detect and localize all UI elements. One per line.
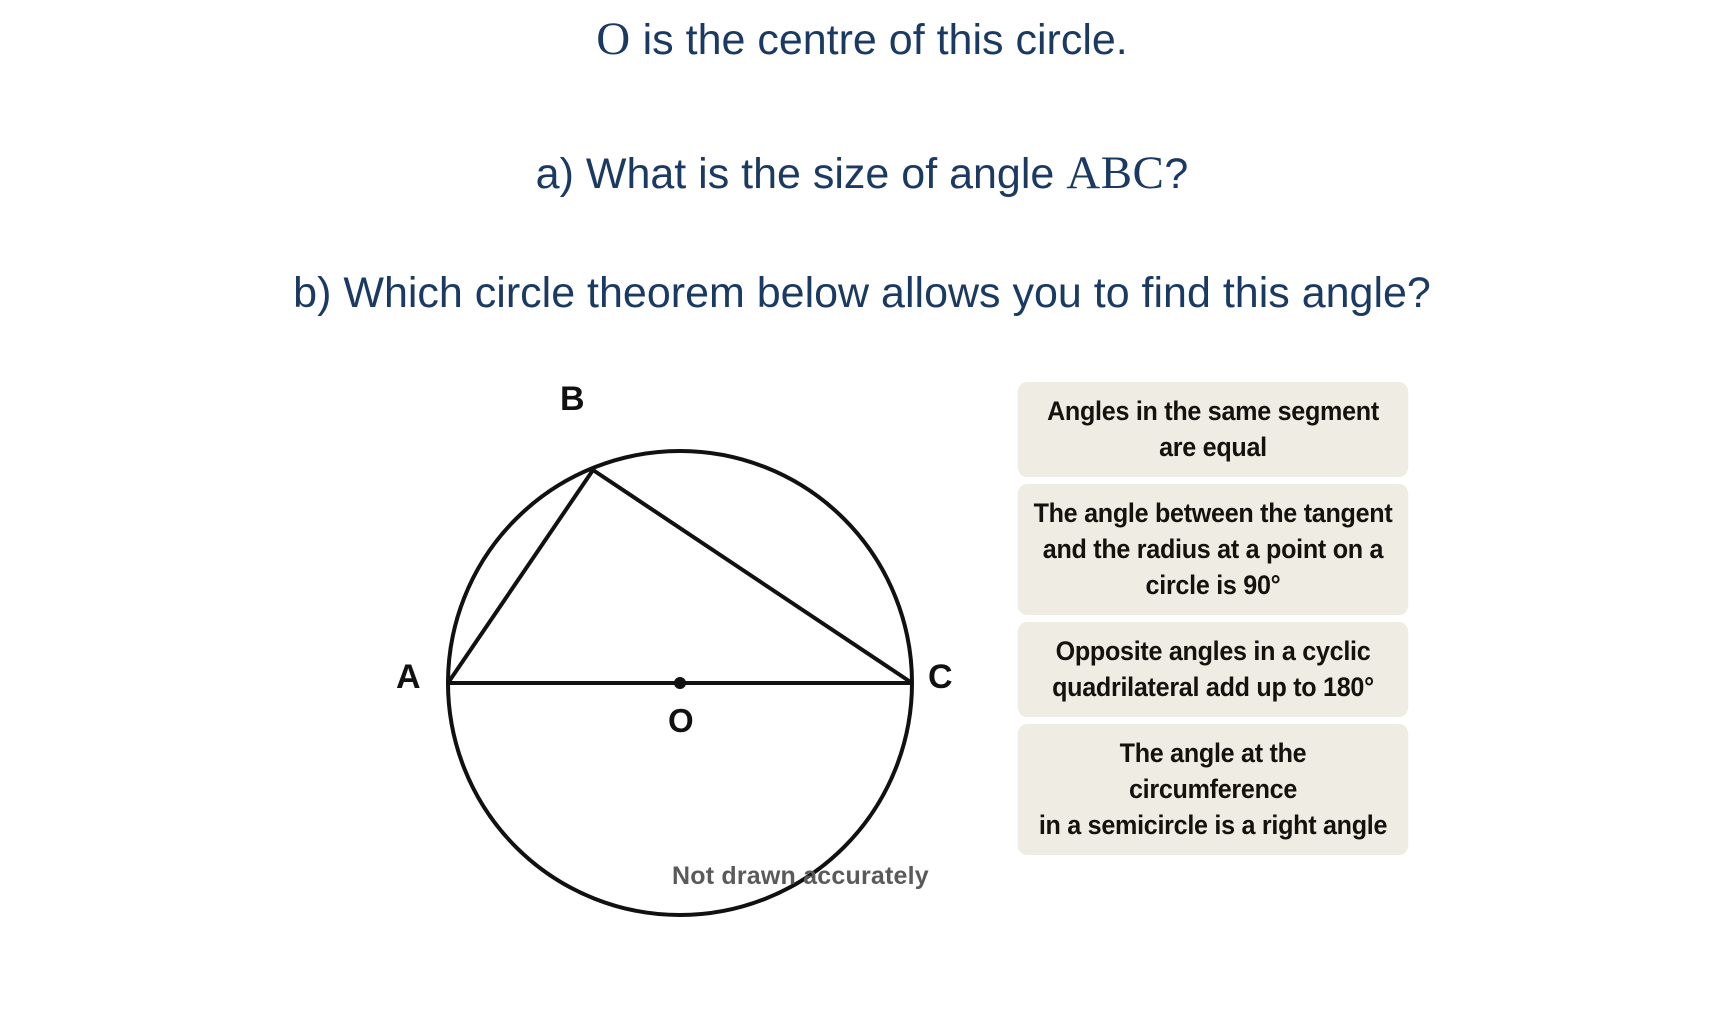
variable-ABC: ABC	[1066, 147, 1164, 199]
vertex-label-c: C	[928, 658, 953, 697]
not-drawn-accurately-caption: Not drawn accurately	[672, 862, 929, 891]
vertex-label-a: A	[396, 658, 421, 697]
theorem-card-tangent-radius[interactable]: The angle between the tangent and the ra…	[1018, 484, 1409, 615]
theorem-card-semicircle-right-angle[interactable]: The angle at the circumference in a semi…	[1018, 724, 1409, 855]
centre-label-o: O	[668, 702, 694, 740]
centre-dot	[674, 677, 686, 689]
theorem-line: in a semicircle is a right angle	[1039, 810, 1387, 840]
theorem-line: Angles in the same segment	[1047, 396, 1379, 426]
theorem-line: The angle at the circumference	[1120, 738, 1307, 804]
theorem-card-same-segment[interactable]: Angles in the same segment are equal	[1018, 382, 1409, 477]
question-line-part-a: a) What is the size of angle ABC?	[0, 150, 1724, 197]
theorem-line: circle is 90°	[1146, 570, 1281, 600]
theorem-line: quadrilateral add up to 180°	[1052, 672, 1374, 702]
segment-bc	[593, 470, 912, 683]
segment-ab	[448, 470, 593, 683]
vertex-label-b: B	[560, 380, 585, 419]
question-line-2-pre: a) What is the size of angle	[536, 150, 1067, 198]
question-line-2-post: ?	[1164, 150, 1188, 198]
theorem-card-cyclic-quadrilateral[interactable]: Opposite angles in a cyclic quadrilatera…	[1018, 622, 1409, 717]
question-line-1-text: is the centre of this circle.	[631, 16, 1128, 64]
question-line-centre-statement: O is the centre of this circle.	[0, 16, 1724, 63]
theorem-line: The angle between the tangent	[1034, 498, 1393, 528]
question-line-part-b: b) Which circle theorem below allows you…	[0, 272, 1724, 315]
theorem-option-list: Angles in the same segment are equal The…	[1003, 382, 1423, 862]
circle-diagram: A B C O	[360, 372, 980, 932]
theorem-line: and the radius at a point on a	[1043, 534, 1383, 564]
theorem-line: are equal	[1159, 432, 1267, 462]
variable-O: O	[596, 13, 630, 65]
theorem-line: Opposite angles in a cyclic	[1056, 636, 1371, 666]
